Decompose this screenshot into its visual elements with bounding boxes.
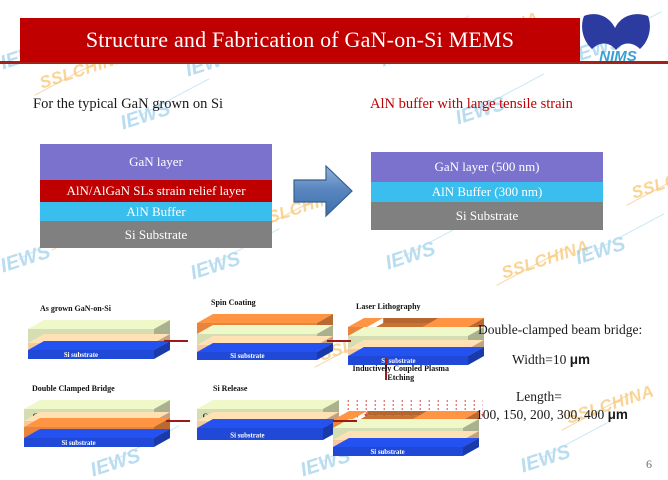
slab-face bbox=[28, 320, 170, 329]
info-line-length-label: Length= bbox=[516, 389, 562, 405]
info-width-unit: μm bbox=[570, 352, 590, 367]
watermark-iews: IEWS bbox=[383, 238, 439, 276]
nims-logo-text: NIMS bbox=[599, 48, 637, 64]
slab-label: Si substrate bbox=[62, 440, 96, 447]
slab-face bbox=[348, 327, 484, 336]
process-step-as-grown: GaNAlNSi substrate bbox=[28, 318, 174, 380]
watermark-sslchina: SSLCHINA bbox=[629, 156, 668, 203]
stack-layer: AlN Buffer (300 nm) bbox=[371, 182, 603, 202]
process-step-graphic: PhotoresistGaNAlNSi substrate bbox=[197, 312, 337, 377]
slab-face bbox=[197, 314, 333, 323]
watermark-swoosh bbox=[496, 247, 567, 285]
stack-layer: GaN layer bbox=[40, 144, 272, 180]
stack-layer-label: AlN/AlGaN SLs strain relief layer bbox=[66, 183, 245, 199]
stack-layer-label: Si Substrate bbox=[125, 227, 187, 243]
info-length-values: 100, 150, 200, 300, 400 bbox=[476, 407, 608, 422]
slab-face bbox=[197, 325, 333, 334]
watermark-iews: IEWS bbox=[573, 233, 629, 271]
process-step-si-release: GaNAlNSi substrate bbox=[197, 398, 343, 470]
slab-face bbox=[367, 411, 427, 415]
watermark-swoosh bbox=[593, 213, 664, 251]
slab-face bbox=[333, 438, 479, 447]
watermark-sslchina: SSLCHINA bbox=[499, 236, 592, 283]
watermark-swoosh bbox=[626, 167, 668, 205]
watermark-swoosh bbox=[538, 421, 609, 459]
stack-layer: AlN Buffer bbox=[40, 202, 272, 221]
watermark-iews: IEWS bbox=[188, 248, 244, 286]
slab-face bbox=[24, 400, 170, 409]
page-title: Structure and Fabrication of GaN-on-Si M… bbox=[20, 18, 580, 62]
slab-face bbox=[348, 318, 383, 327]
stack-layer-label: AlN Buffer (300 nm) bbox=[432, 184, 543, 200]
layer-stack-left: GaN layerAlN/AlGaN SLs strain relief lay… bbox=[40, 144, 272, 248]
right-block-arrow-icon bbox=[292, 163, 354, 219]
slab-face bbox=[197, 400, 339, 409]
process-step-graphic: GaNAlNSi substrate bbox=[333, 398, 483, 465]
stack-layer: GaN layer (500 nm) bbox=[371, 152, 603, 182]
process-step-caption-spin-coating: Spin Coating bbox=[211, 298, 256, 307]
stack-layer-label: Si Substrate bbox=[456, 208, 518, 224]
process-step-caption-si-release: Si Release bbox=[213, 384, 247, 393]
slide-canvas: SSLCHINASSLCHINASSLCHINASSLCHINASSLCHINA… bbox=[0, 0, 668, 480]
slab-label: Si substrate bbox=[230, 353, 264, 360]
process-connector bbox=[166, 420, 190, 422]
stack-layer-label: AlN Buffer bbox=[126, 204, 185, 220]
process-connector bbox=[327, 340, 351, 342]
process-step-caption-as-grown: As grown GaN-on-Si bbox=[40, 304, 111, 313]
slab-label: Si substrate bbox=[230, 432, 264, 439]
process-step-double-clamped-bridge: GaNAlNGap (Air)Si substrate bbox=[24, 398, 174, 470]
process-step-graphic: GaNAlNSi substrate bbox=[28, 318, 174, 375]
slab-face bbox=[197, 419, 339, 428]
heading-left: For the typical GaN grown on Si bbox=[33, 96, 223, 113]
slab-face bbox=[197, 343, 333, 352]
info-line-width: Width=10 μm bbox=[512, 352, 590, 368]
info-width-value: Width=10 bbox=[512, 352, 570, 367]
stack-layer: AlN/AlGaN SLs strain relief layer bbox=[40, 180, 272, 202]
slab-face bbox=[24, 429, 170, 438]
process-step-caption-icp-etching: Inductively Coupled Plasma Etching bbox=[339, 364, 463, 382]
slab-label: Si substrate bbox=[371, 449, 405, 456]
slab-face bbox=[348, 347, 484, 356]
stack-layer-label: GaN layer bbox=[129, 154, 183, 170]
info-length-unit: μm bbox=[608, 407, 628, 422]
slab-face bbox=[383, 318, 438, 323]
layer-stack-right: GaN layer (500 nm)AlN Buffer (300 nm)Si … bbox=[371, 152, 603, 230]
heading-right: AlN buffer with large tensile strain bbox=[370, 96, 573, 113]
process-step-caption-laser-lithography: Laser Lithography bbox=[356, 302, 421, 311]
process-step-icp-etching: GaNAlNSi substrate bbox=[333, 398, 483, 470]
watermark-iews: IEWS bbox=[518, 441, 574, 479]
stack-layer: Si Substrate bbox=[371, 202, 603, 230]
process-connector bbox=[164, 340, 188, 342]
stack-layer-label: GaN layer (500 nm) bbox=[434, 159, 539, 175]
slab-face bbox=[24, 418, 170, 427]
stack-layer: Si Substrate bbox=[40, 221, 272, 248]
nims-logo: NIMS bbox=[578, 12, 660, 64]
info-line-bridge: Double-clamped beam bridge: bbox=[478, 322, 642, 338]
slab-label: Si substrate bbox=[64, 352, 98, 359]
slab-face bbox=[28, 341, 170, 350]
process-step-spin-coating: PhotoresistGaNAlNSi substrate bbox=[197, 312, 337, 382]
process-step-graphic: GaNAlNGap (Air)Si substrate bbox=[24, 398, 174, 465]
page-number: 6 bbox=[646, 457, 652, 472]
process-step-caption-double-clamped-bridge: Double Clamped Bridge bbox=[32, 384, 115, 393]
process-connector bbox=[333, 420, 357, 422]
info-line-length-values: 100, 150, 200, 300, 400 μm bbox=[476, 407, 628, 423]
process-step-graphic: GaNAlNSi substrate bbox=[197, 398, 343, 465]
title-bar: Structure and Fabrication of GaN-on-Si M… bbox=[20, 18, 580, 62]
